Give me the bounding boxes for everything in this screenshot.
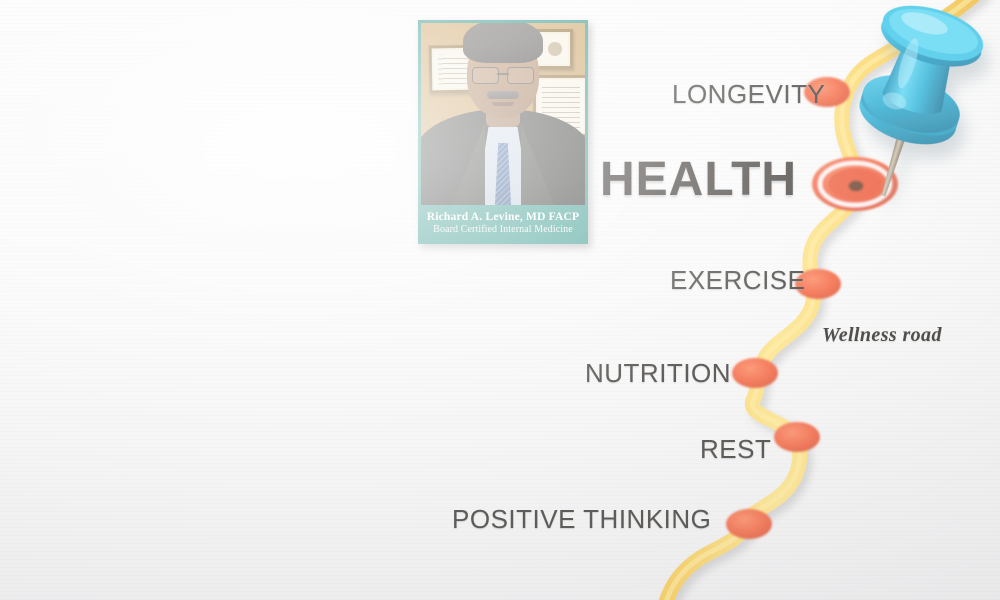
eyeglasses-icon xyxy=(472,67,534,83)
road-stop-label-longevity: LONGEVITY xyxy=(672,79,825,110)
infographic-canvas: LONGEVITYHEALTHEXERCISENUTRITIONRESTPOSI… xyxy=(0,0,1000,600)
hair xyxy=(463,23,543,63)
road-stop-dot xyxy=(774,422,820,452)
mouth xyxy=(492,102,514,106)
road-stop-dot xyxy=(726,509,772,539)
road-stop-label-rest: REST xyxy=(700,434,771,465)
road-stop-label-nutrition: NUTRITION xyxy=(585,358,731,389)
physician-credential: Board Certified Internal Medicine xyxy=(433,224,573,235)
wellness-road-annotation: Wellness road xyxy=(822,324,942,347)
mustache xyxy=(487,91,519,99)
road-stop-dot xyxy=(732,358,778,388)
road-stop-label-positive-thinking: POSITIVE THINKING xyxy=(452,504,711,535)
blue-pushpin-icon xyxy=(810,0,1000,222)
physician-figure xyxy=(421,43,585,213)
road-stop-label-health: HEALTH xyxy=(600,152,797,207)
physician-photo-card: Richard A. Levine, MD FACP Board Certifi… xyxy=(418,20,588,244)
photo-caption: Richard A. Levine, MD FACP Board Certifi… xyxy=(421,205,585,241)
physician-name: Richard A. Levine, MD FACP xyxy=(427,211,580,223)
road-stop-label-exercise: EXERCISE xyxy=(670,265,806,296)
